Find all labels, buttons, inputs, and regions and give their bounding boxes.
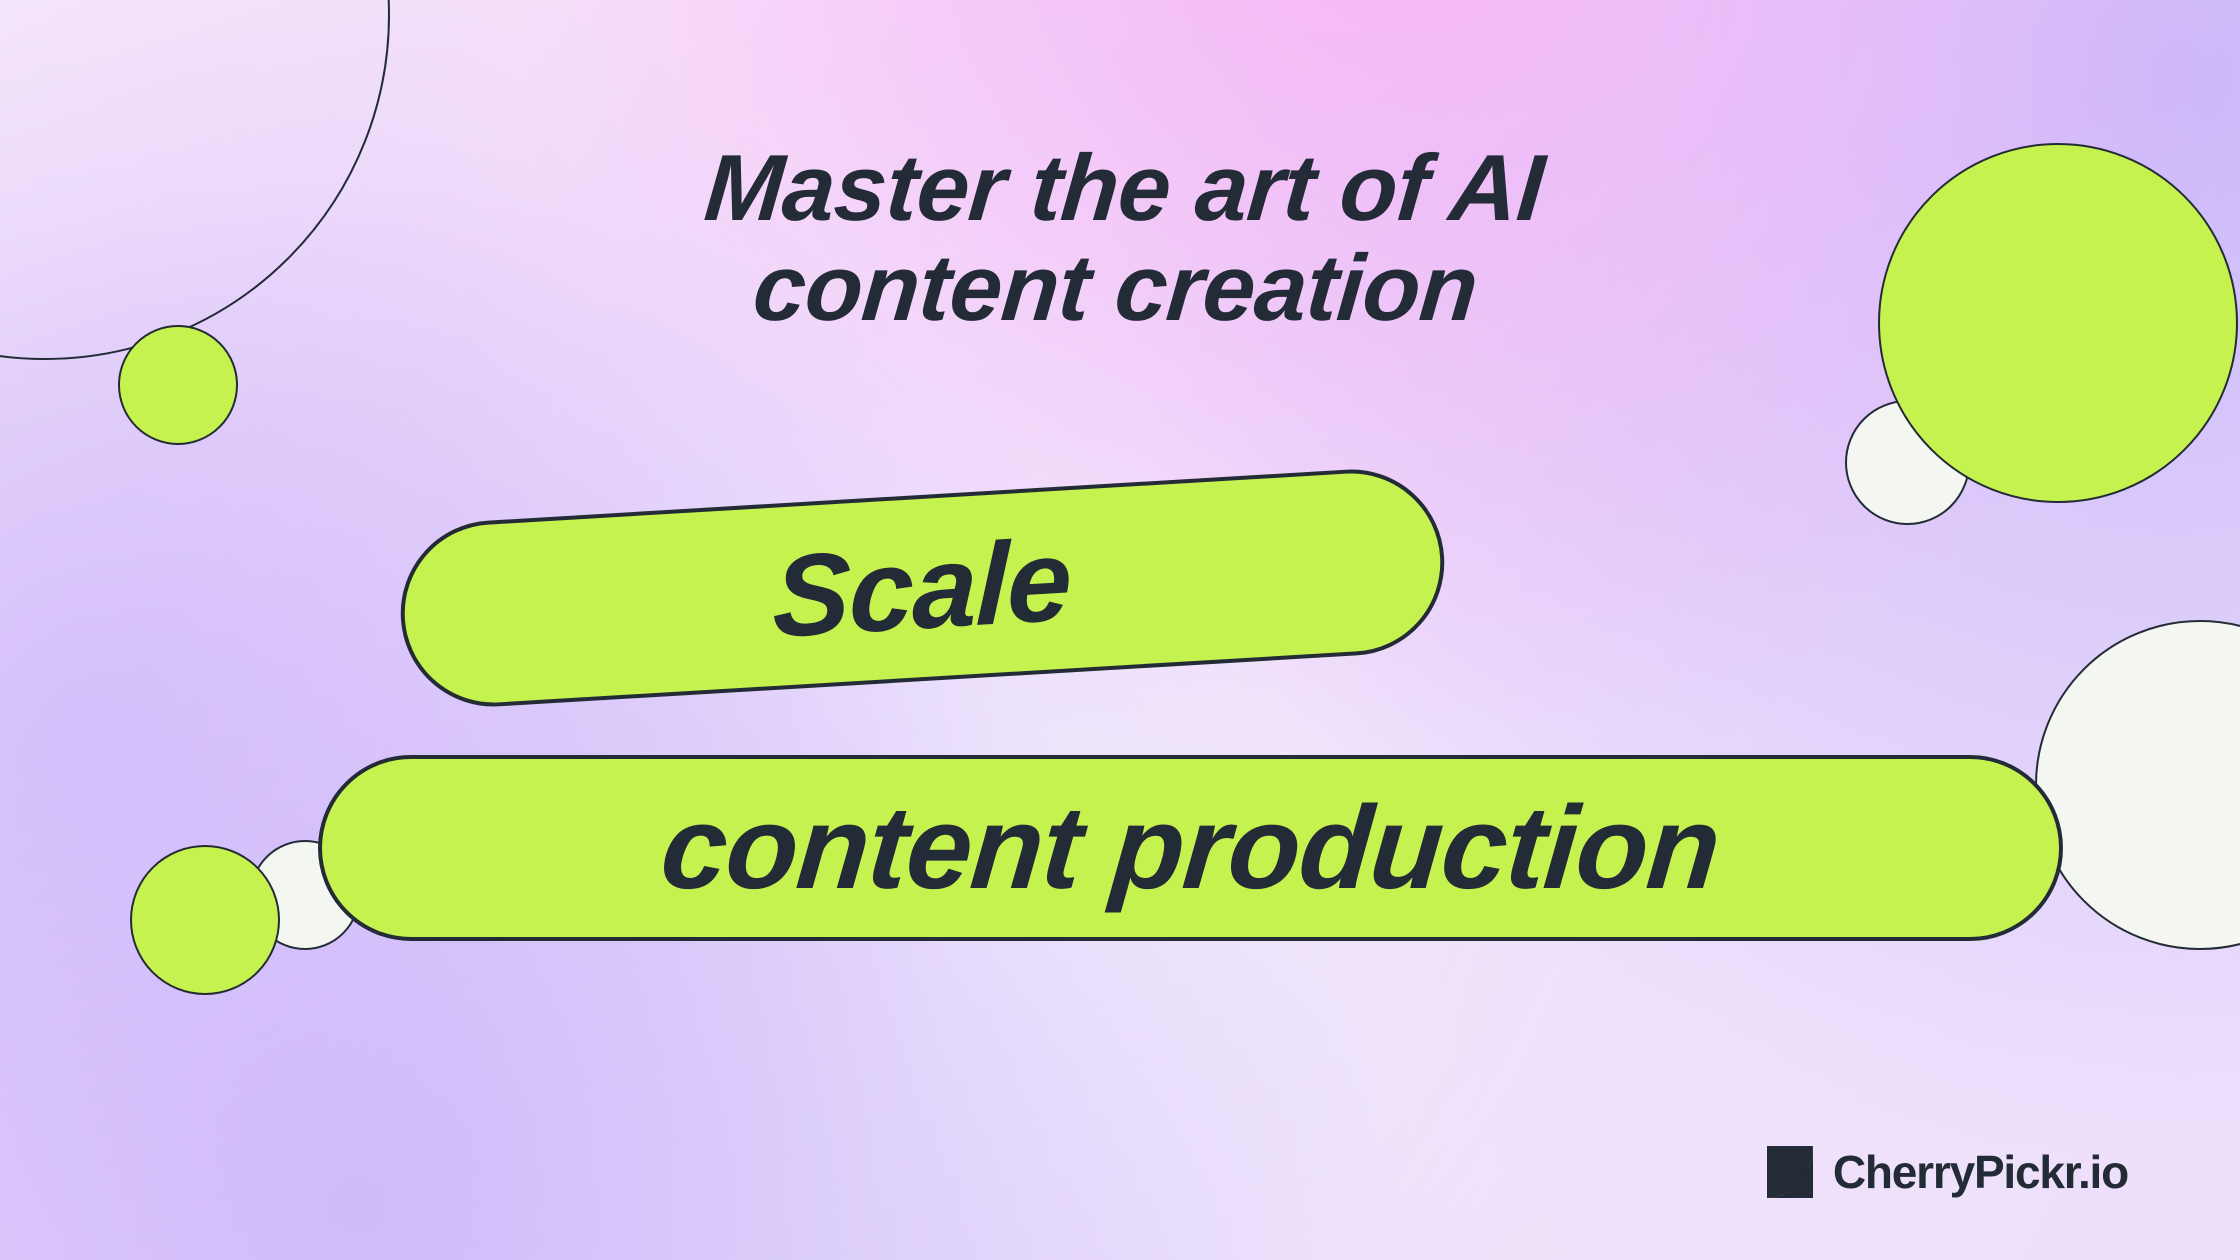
- pill-scale: Scale: [395, 464, 1449, 712]
- pill-scale-label: Scale: [772, 512, 1073, 664]
- lime-dot-bottom-left-icon: [130, 845, 280, 995]
- page-title: Master the art of AI content creation: [0, 138, 2240, 337]
- pill-content-production: content production: [318, 755, 2063, 941]
- white-circle-right-icon: [2035, 620, 2240, 950]
- brand-logo-text: CherryPickr.io: [1833, 1149, 2128, 1195]
- headline-line-1: Master the art of AI: [0, 138, 2240, 238]
- headline-line-2: content creation: [0, 238, 2240, 338]
- pill-content-production-label: content production: [656, 780, 1725, 916]
- cherrypickr-mark-icon: [1767, 1146, 1813, 1198]
- lime-dot-top-left-icon: [118, 325, 238, 445]
- brand-logo: CherryPickr.io: [1767, 1146, 2128, 1198]
- promo-banner: Master the art of AI content creation Sc…: [0, 0, 2240, 1260]
